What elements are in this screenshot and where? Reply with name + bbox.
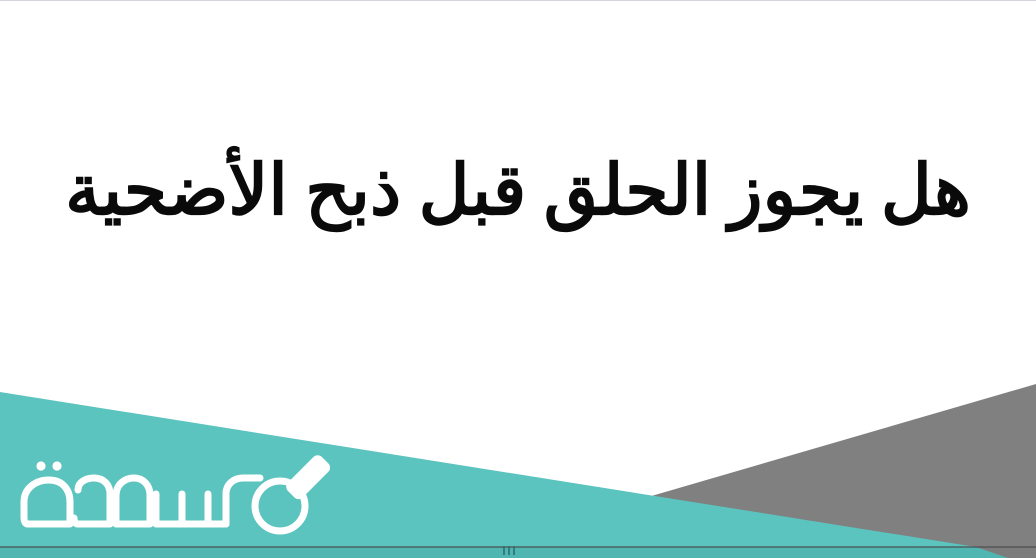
page-title: هل يجوز الحلق قبل ذبح الأضحية [65, 148, 971, 236]
splitter-divider[interactable] [0, 546, 1036, 548]
grip-bar [503, 546, 505, 555]
logo-dot-left [36, 461, 45, 470]
logo-dot-right [52, 461, 61, 470]
grip-bar [508, 546, 510, 555]
logo-letter-waw-1 [116, 478, 150, 524]
grip-bar [513, 546, 515, 555]
logo-letter-ain [74, 478, 110, 524]
logo-letter-seen [156, 494, 226, 524]
splitter-drag-handle[interactable] [500, 545, 518, 556]
brand-logo[interactable] [12, 454, 342, 540]
bottom-teal-strip [0, 547, 1036, 558]
slide-canvas: هل يجوز الحلق قبل ذبح الأضحية [0, 0, 1036, 558]
magnifier-handle-icon [284, 454, 333, 502]
logo-letter-ta-marbuta [24, 480, 70, 524]
headline-container: هل يجوز الحلق قبل ذبح الأضحية [0, 1, 1036, 387]
